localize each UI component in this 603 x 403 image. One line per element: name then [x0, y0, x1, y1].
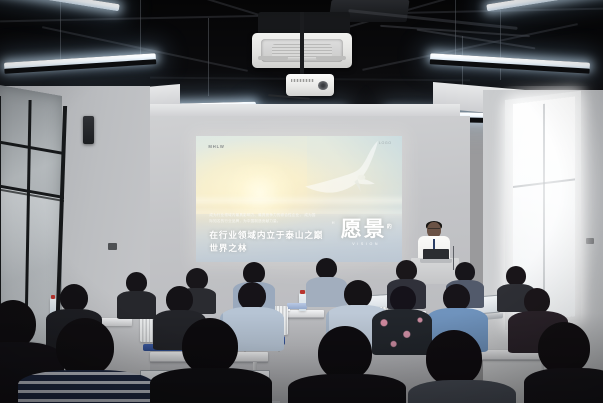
- wall-sign-plaque-right: [586, 238, 594, 244]
- presenter-laptop-base: [420, 259, 452, 263]
- slide-logo: MHLW: [208, 144, 224, 149]
- slide-vision-chinese: 愿景的: [341, 219, 392, 240]
- projector-mount-rod: [300, 12, 304, 74]
- striped-shirt: [18, 370, 154, 403]
- slide-vision-chinese-text: 愿景: [341, 218, 387, 241]
- slide-vision-english: VISION: [341, 242, 392, 246]
- presenter-glasses: [428, 228, 440, 232]
- slide-corner-mark: LOGO: [379, 141, 392, 145]
- wall-sign-plaque: [108, 243, 117, 250]
- slide-vision-chinese-suffix: 的: [387, 224, 392, 230]
- slide-headline-line2: 世界之林: [209, 242, 337, 254]
- slide-headline-line1: 在行业领域内立于泰山之巅: [209, 229, 337, 241]
- led-strip-right: [430, 53, 590, 69]
- lecture-hall-photo: MHLW LOGO 成为行业领域内最具影响力、最具竞争力的综合性企业， 成为国际…: [0, 0, 603, 403]
- floral-blouse: [372, 309, 432, 355]
- slide-subtext: 成为行业领域内最具影响力、最具竞争力的综合性企业， 成为国际知名的行业品牌，为中…: [209, 212, 316, 224]
- slide-headline: 在行业领域内立于泰山之巅 世界之林: [209, 229, 337, 254]
- projected-slide: MHLW LOGO 成为行业领域内最具影响力、最具竞争力的综合性企业， 成为国际…: [196, 136, 402, 262]
- led-strip-left: [4, 53, 156, 70]
- slide-quote-mark: “: [332, 220, 335, 230]
- slide-vision-block: “ 愿景的 VISION: [341, 219, 392, 246]
- microphone-stand: [453, 246, 454, 270]
- wall-speaker: [83, 116, 94, 144]
- ceiling-projector: [286, 74, 334, 96]
- blue-folder-1: [287, 303, 307, 309]
- eagle-illustration: [299, 139, 394, 212]
